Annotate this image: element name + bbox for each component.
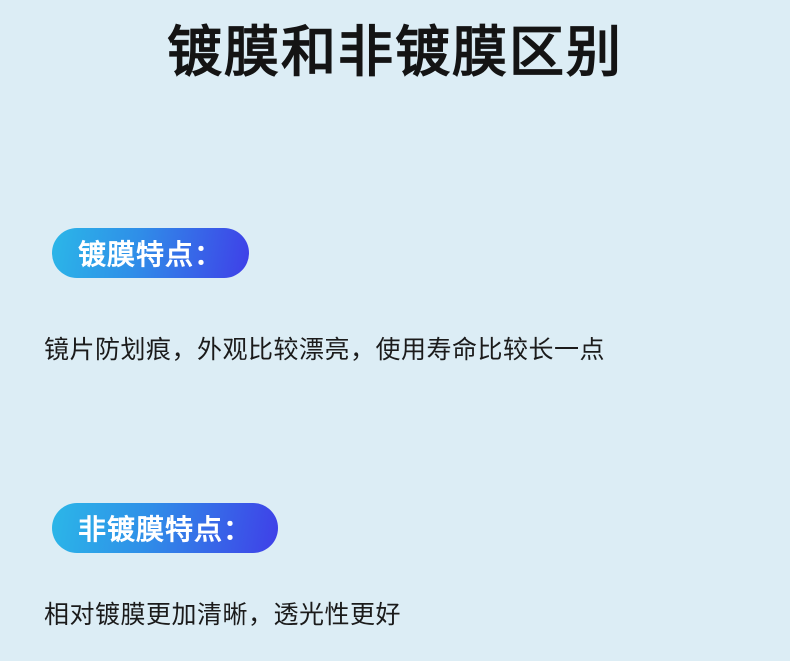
page-title: 镀膜和非镀膜区别 [0, 18, 790, 87]
section-badge-uncoated-label: 非镀膜特点： [78, 508, 252, 548]
section-badge-uncoated: 非镀膜特点： [52, 503, 278, 553]
section-text-uncoated: 相对镀膜更加清晰，透光性更好 [44, 595, 401, 631]
section-badge-coated: 镀膜特点： [52, 228, 249, 278]
section-badge-coated-label: 镀膜特点： [78, 233, 223, 273]
promo-page: 镀膜和非镀膜区别 镀膜特点： 镜片防划痕，外观比较漂亮，使用寿命比较长一点 非镀… [0, 0, 790, 661]
section-text-coated: 镜片防划痕，外观比较漂亮，使用寿命比较长一点 [44, 330, 605, 366]
